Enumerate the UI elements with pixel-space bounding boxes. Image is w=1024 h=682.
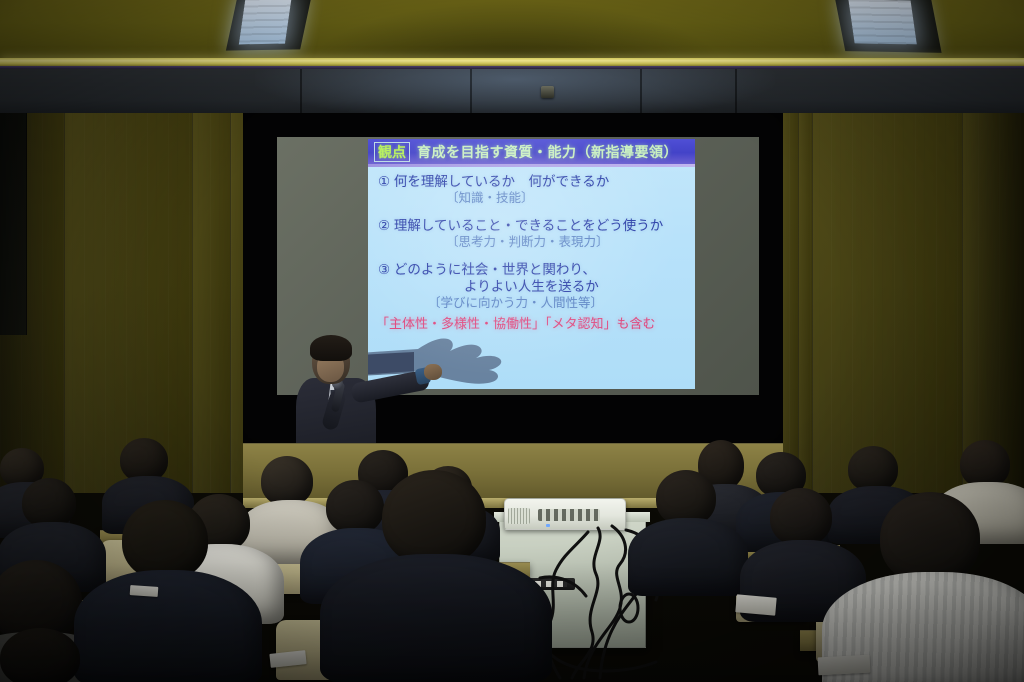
slide-title-text: 育成を目指す資質・能力（新指導要領）	[417, 142, 678, 162]
handout-paper	[130, 585, 159, 597]
wall-shadow-right	[954, 113, 1024, 493]
slide-sub-3: 〔学びに向かう力・人間性等〕	[428, 295, 695, 311]
slide-title-badge: 観点	[374, 142, 410, 162]
slide-body: ① 何を理解しているか 何ができるか 〔知識・技能〕 ② 理解していること・でき…	[368, 173, 695, 332]
ceiling-shadow	[300, 0, 730, 62]
fluorescent-tube	[239, 0, 292, 44]
smoke-detector-icon	[541, 86, 554, 98]
slide-title-bar: 観点 育成を目指す資質・能力（新指導要領）	[368, 139, 695, 164]
slide-line-2: ② 理解していること・できることをどう使うか	[378, 217, 695, 234]
presenter-hand	[424, 364, 442, 380]
handout-paper	[818, 655, 871, 676]
slide-line-3: ③ どのように社会・世界と関わり、	[378, 261, 695, 278]
slide-red-note: 「主体性・多様性・協働性」「メタ認知」も含む	[376, 315, 695, 332]
slide-title-underline	[368, 164, 695, 167]
slide-line-1: ① 何を理解しているか 何ができるか	[378, 173, 695, 190]
slide-sub-2: 〔思考力・判断力・表現力〕	[446, 234, 695, 250]
wall-shadow-left	[0, 113, 70, 493]
handout-paper	[735, 594, 776, 615]
lecture-hall-photo: 観点 育成を目指す資質・能力（新指導要領） ① 何を理解しているか 何ができるか…	[0, 0, 1024, 682]
slide-line-3-cont: よりよい人生を送るか	[464, 278, 695, 295]
fluorescent-tube	[848, 0, 916, 44]
ceiling-light-right-icon	[834, 0, 941, 53]
ceiling-light-left-icon	[226, 0, 312, 51]
slide-sub-1: 〔知識・技能〕	[446, 190, 695, 206]
presenter-hair	[310, 335, 352, 361]
